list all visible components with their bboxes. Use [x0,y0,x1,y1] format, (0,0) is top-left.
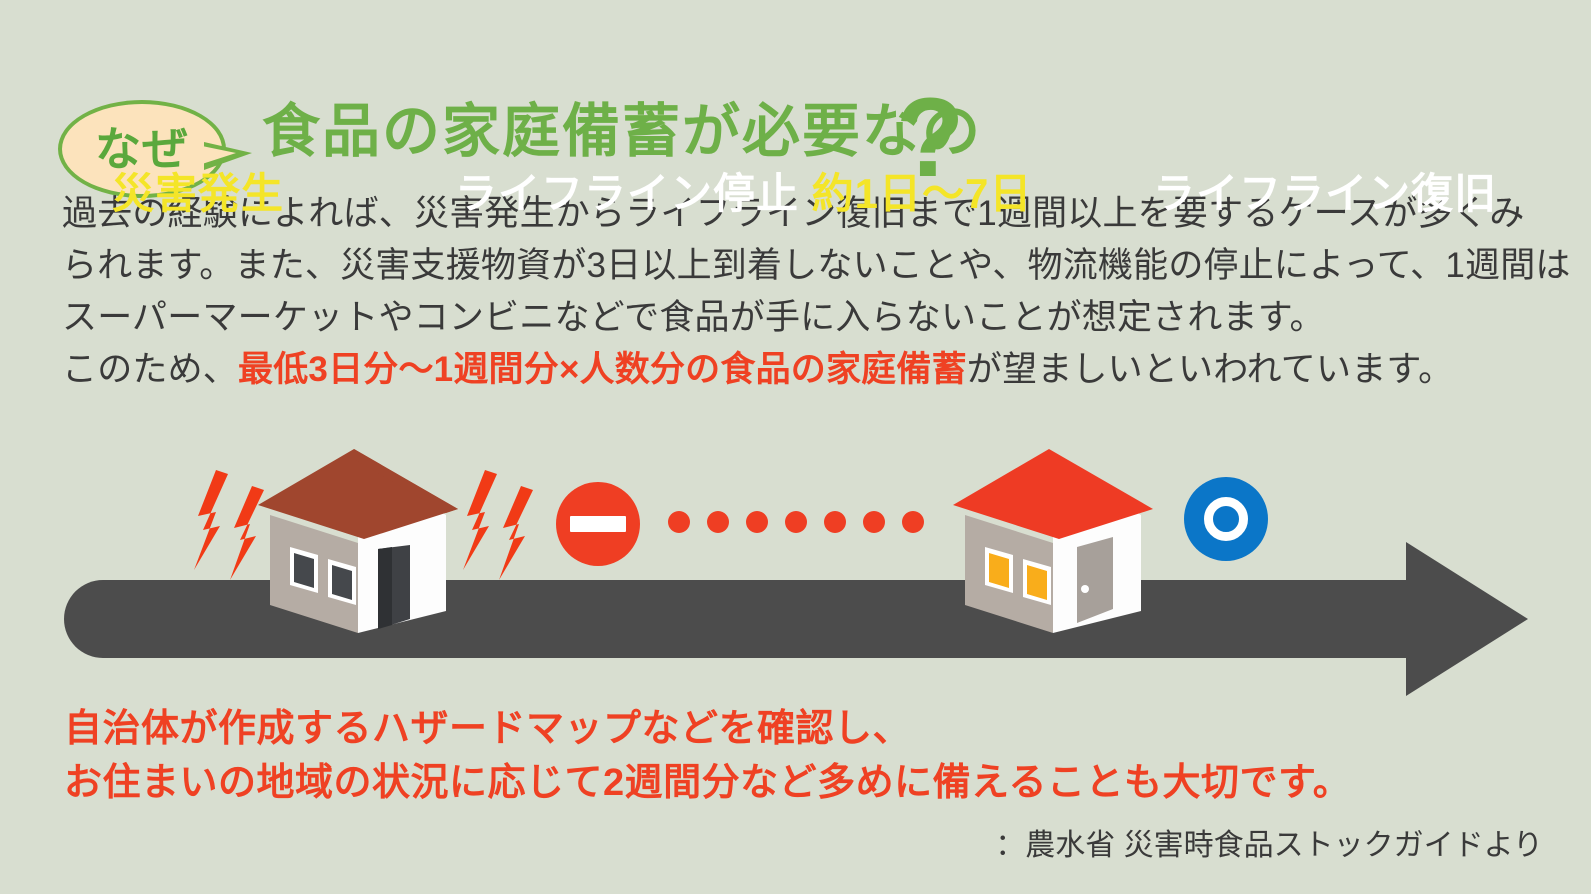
body-line-4-prefix: このため、 [62,350,238,389]
progress-dot [785,511,807,533]
page-title: 食品の家庭備蓄が必要なの [262,102,982,163]
source-attribution: ：農水省 災害時食品ストックガイドより [995,826,1543,866]
speech-bubble-tail-inner-icon [202,146,236,164]
bottom-note-line-1: 自治体が作成するハザードマップなどを確認し、 [64,702,1351,756]
body-line-3: スーパーマーケットやコンビニなどで食品が手に入らないことが想定されます。 [62,292,1532,344]
body-line-2: られます。また、災害支援物資が3日以上到着しないことや、物流機能の停止によって、… [62,240,1532,292]
progress-dot [707,511,729,533]
progress-dot [863,511,885,533]
bottom-note-line-2: お住まいの地域の状況に応じて2週間分など多めに備えることも大切です。 [64,756,1351,810]
progress-dot [668,511,690,533]
progress-dot [746,511,768,533]
timeline-diagram [0,425,1591,690]
damaged-house-icon [250,443,462,633]
body-line-4: このため、最低3日分〜1週間分×人数分の食品の家庭備蓄が望ましいといわれています… [62,344,1532,396]
progress-dot [902,511,924,533]
bottom-note: 自治体が作成するハザードマップなどを確認し、 お住まいの地域の状況に応じて2週間… [64,702,1351,810]
ok-circle-ring [1204,497,1248,541]
timeline-label-lifeline-stop: ライフライン停止 約1日〜7日 [455,168,1032,220]
body-line-4-suffix: が望ましいといわれています。 [967,350,1454,389]
timeline-label-lifeline-recovery: ライフライン復旧 [1153,168,1497,220]
infographic-root: なぜ 食品の家庭備蓄が必要なの ? 過去の経験によれば、災害発生からライフライン… [0,0,1591,894]
timeline-arrow-head-icon [1406,542,1528,696]
lightning-bolt-icon [455,470,541,600]
heading-row: なぜ 食品の家庭備蓄が必要なの ? [0,46,1591,168]
progress-dot [824,511,846,533]
no-entry-bar [570,516,626,532]
timeline-label-duration: 約1日〜7日 [812,170,1033,217]
timeline-label-lifeline-stop-main: ライフライン停止 [455,170,812,217]
dotted-progress-icons [668,511,928,537]
restored-house-icon [945,443,1157,633]
ok-circle-icon [1184,477,1268,561]
no-entry-icon [556,482,640,566]
body-line-4-highlight: 最低3日分〜1週間分×人数分の食品の家庭備蓄 [238,350,967,389]
timeline-label-disaster: 災害発生 [112,168,284,220]
